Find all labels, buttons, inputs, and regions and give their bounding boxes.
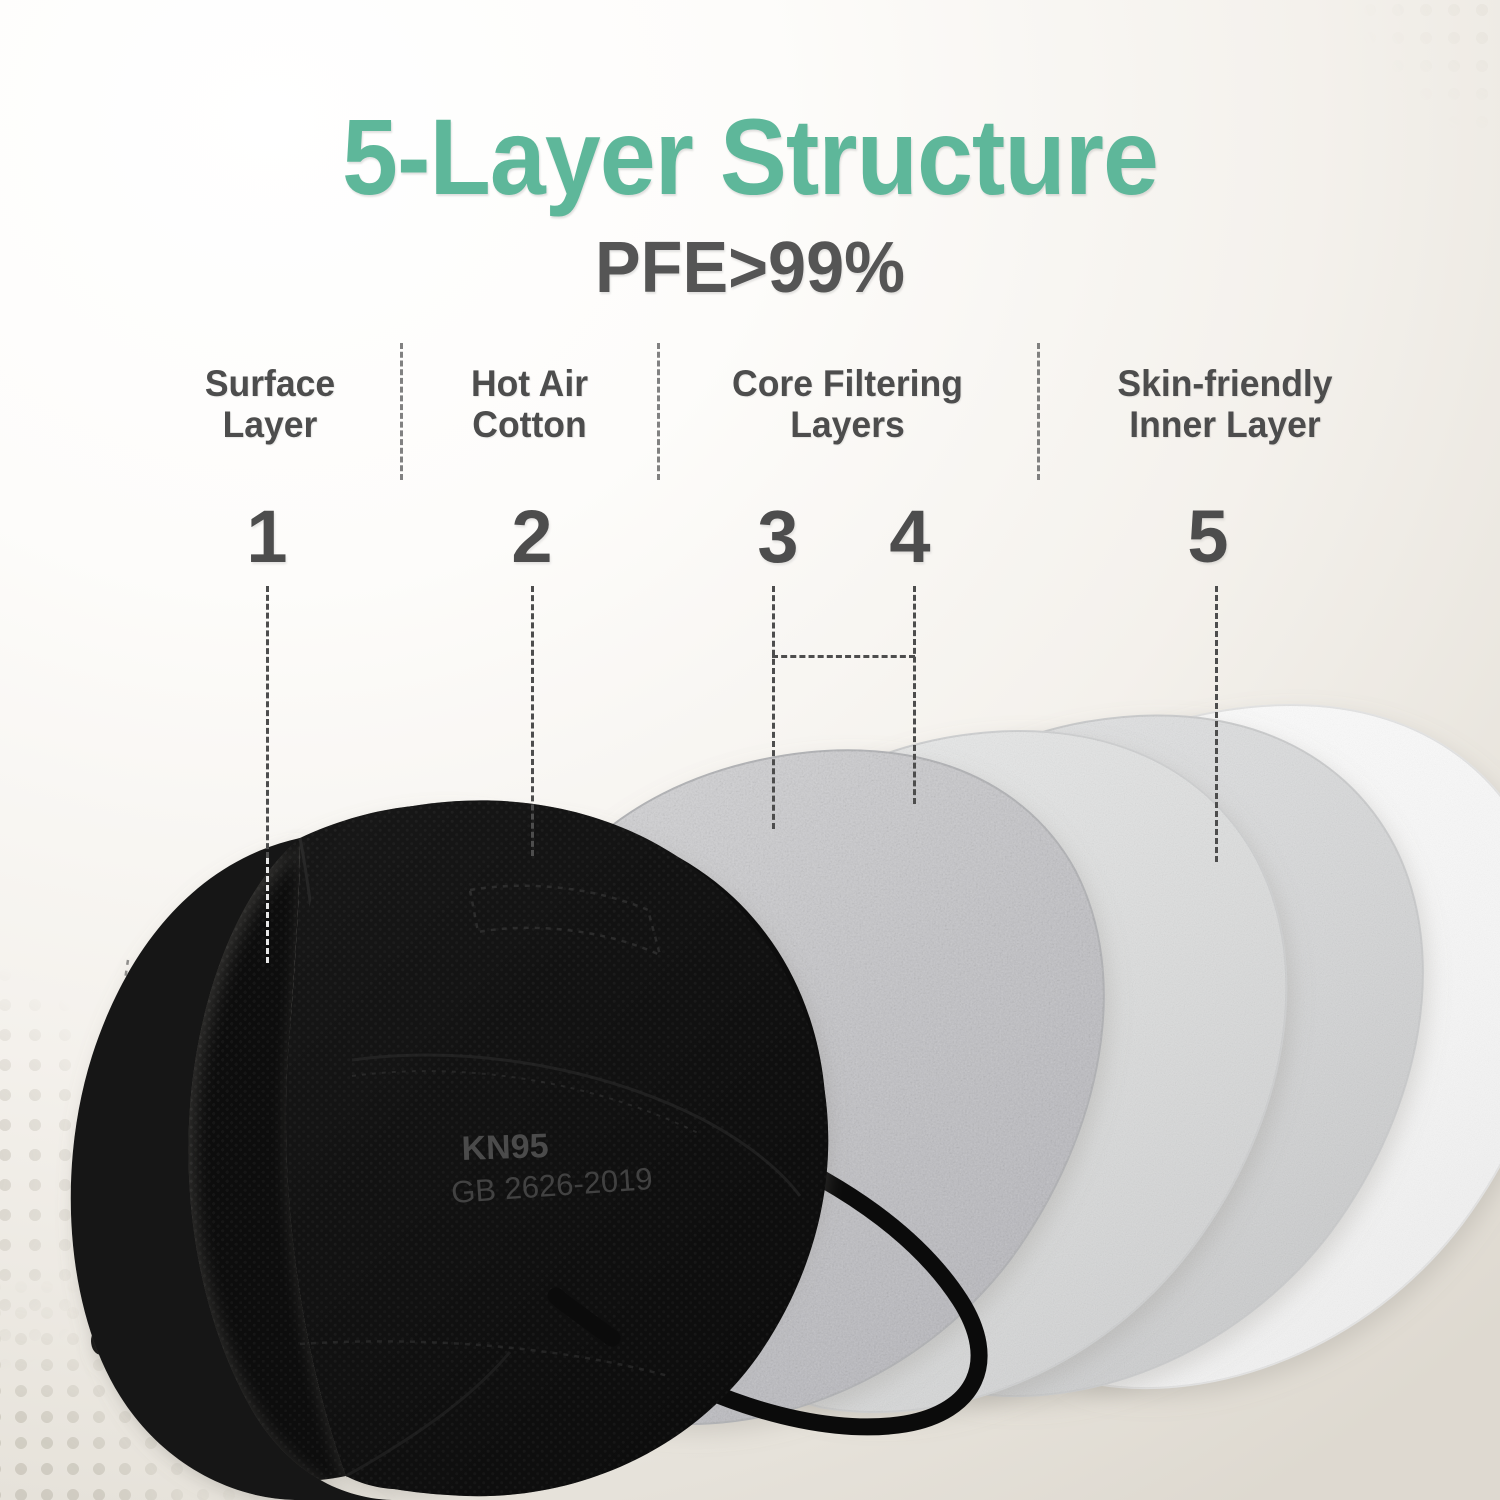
layer-label-hotair-line2: Cotton (472, 404, 586, 445)
leader-line-1-over-mask (266, 858, 269, 963)
leader-line-4 (913, 586, 916, 804)
mask-print-kn95: KN95 (461, 1127, 549, 1168)
layer-number-5: 5 (1163, 500, 1253, 574)
layer-label-skin-line1: Skin-friendly (1117, 363, 1332, 404)
surface-layer-black-mask: KN95 GB 2626-2019 (71, 800, 828, 1500)
product-layer-stack-image: KN95 GB 2626-2019 (0, 0, 1500, 1500)
layer-number-1: 1 (222, 500, 312, 574)
layer-number-2: 2 (487, 500, 577, 574)
page-title: 5-Layer Structure (53, 103, 1448, 211)
layer-label-core-line1: Core Filtering (732, 363, 963, 404)
layer-label-hot-air-cotton: Hot Air Cotton (407, 363, 652, 446)
layer-label-surface-line1: Surface (205, 363, 335, 404)
leader-line-5 (1215, 586, 1218, 862)
leader-line-3 (772, 586, 775, 829)
layer-label-core-line2: Layers (790, 404, 905, 445)
page-subtitle: PFE>99% (38, 232, 1463, 304)
leader-line-2 (531, 586, 534, 856)
bracket-connector-3-4 (772, 655, 915, 658)
layer-label-surface: Surface Layer (145, 363, 395, 446)
layer-number-3: 3 (733, 500, 823, 574)
infographic-canvas: KN95 GB 2626-2019 5-Layer Structure PFE>… (0, 0, 1500, 1500)
layer-label-core-filtering: Core Filtering Layers (668, 363, 1028, 446)
leader-line-1-upper (266, 586, 269, 858)
layer-label-skin-friendly: Skin-friendly Inner Layer (1047, 363, 1402, 446)
layer-label-row: Surface Layer Hot Air Cotton Core Filter… (0, 355, 1500, 485)
layer-number-4: 4 (865, 500, 955, 574)
layer-label-skin-line2: Inner Layer (1129, 404, 1321, 445)
layer-label-surface-line2: Layer (223, 404, 318, 445)
layer-label-hotair-line1: Hot Air (471, 363, 588, 404)
